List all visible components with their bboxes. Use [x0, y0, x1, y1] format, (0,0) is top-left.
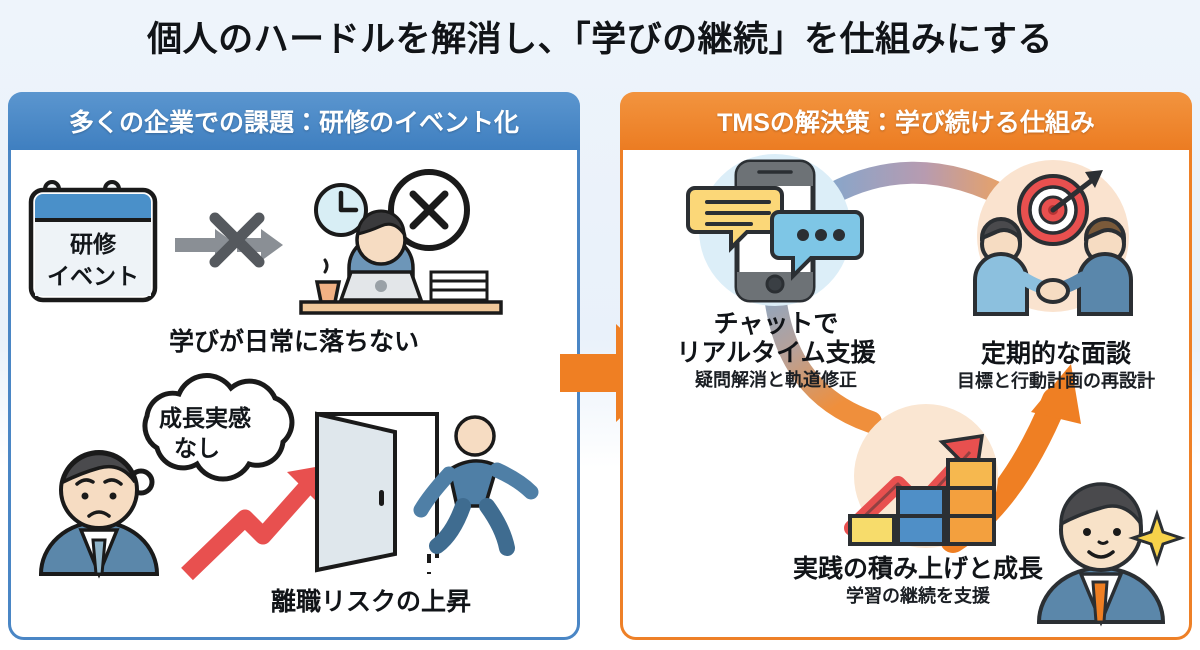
- red-up-arrow-icon: [187, 466, 321, 574]
- solution-panel: TMSの解決策：学び続ける仕組み: [620, 92, 1192, 640]
- regular-meeting-caption: 定期的な面談 目標と行動計画の再設計: [923, 340, 1189, 393]
- regular-meeting-subtitle: 目標と行動計画の再設計: [923, 371, 1189, 393]
- turnover-risk-caption: 離職リスクの上昇: [171, 588, 571, 617]
- training-event-caption: 学びが日常に落ちない: [11, 328, 577, 357]
- problem-panel-body: 研修 イベント: [11, 150, 577, 640]
- regular-meeting-illustration: [943, 158, 1163, 318]
- blocked-arrow-icon: [175, 218, 283, 262]
- infographic-canvas: 個人のハードルを解消し、「学びの継続」を仕組みにする 多くの企業での課題：研修の…: [0, 0, 1200, 650]
- desk-icon: [301, 302, 501, 313]
- training-event-illustration: 研修 イベント: [29, 160, 559, 325]
- smiling-businessman-icon: [1039, 484, 1163, 622]
- problem-panel-header-text: 多くの企業での課題：研修のイベント化: [69, 103, 519, 139]
- svg-text:成長実感: 成長実感: [159, 405, 251, 431]
- turnover-risk-caption-text: 離職リスクの上昇: [171, 588, 571, 617]
- happy-employee-illustration: [1033, 448, 1183, 623]
- page-title: 個人のハードルを解消し、「学びの継続」を仕組みにする: [147, 11, 1053, 62]
- svg-text:研修: 研修: [70, 231, 117, 257]
- calendar-icon: 研修 イベント: [31, 182, 155, 300]
- problem-panel-header: 多くの企業での課題：研修のイベント化: [8, 92, 580, 150]
- chat-support-title-line-2: リアルタイム支援: [631, 339, 921, 368]
- practice-growth-illustration: [818, 400, 1038, 560]
- page-title-bar: 個人のハードルを解消し、「学びの継続」を仕組みにする: [0, 0, 1200, 72]
- chat-support-illustration: [663, 152, 883, 312]
- svg-text:なし: なし: [174, 435, 220, 461]
- chat-support-title-line-1: チャットで: [631, 310, 921, 339]
- solution-panel-header-text: TMSの解決策：学び続ける仕組み: [717, 103, 1095, 139]
- thought-bubble-icon: 成長実感 なし: [117, 376, 292, 502]
- svg-text:イベント: イベント: [47, 263, 139, 289]
- solution-panel-header: TMSの解決策：学び続ける仕組み: [620, 92, 1192, 150]
- chat-support-subtitle: 疑問解消と軌道修正: [631, 370, 921, 392]
- problem-panel: 多くの企業での課題：研修のイベント化 研修 イベント: [8, 92, 580, 640]
- solution-panel-body: チャットで リアルタイム支援 疑問解消と軌道修正: [623, 150, 1189, 640]
- training-event-caption-text: 学びが日常に落ちない: [11, 328, 577, 357]
- chat-support-caption: チャットで リアルタイム支援 疑問解消と軌道修正: [631, 310, 921, 392]
- open-door-icon: [317, 414, 437, 574]
- regular-meeting-title: 定期的な面談: [923, 340, 1189, 369]
- turnover-risk-illustration: 成長実感 なし: [19, 378, 569, 578]
- coffee-cup-icon: [317, 260, 339, 302]
- books-icon: [431, 272, 487, 300]
